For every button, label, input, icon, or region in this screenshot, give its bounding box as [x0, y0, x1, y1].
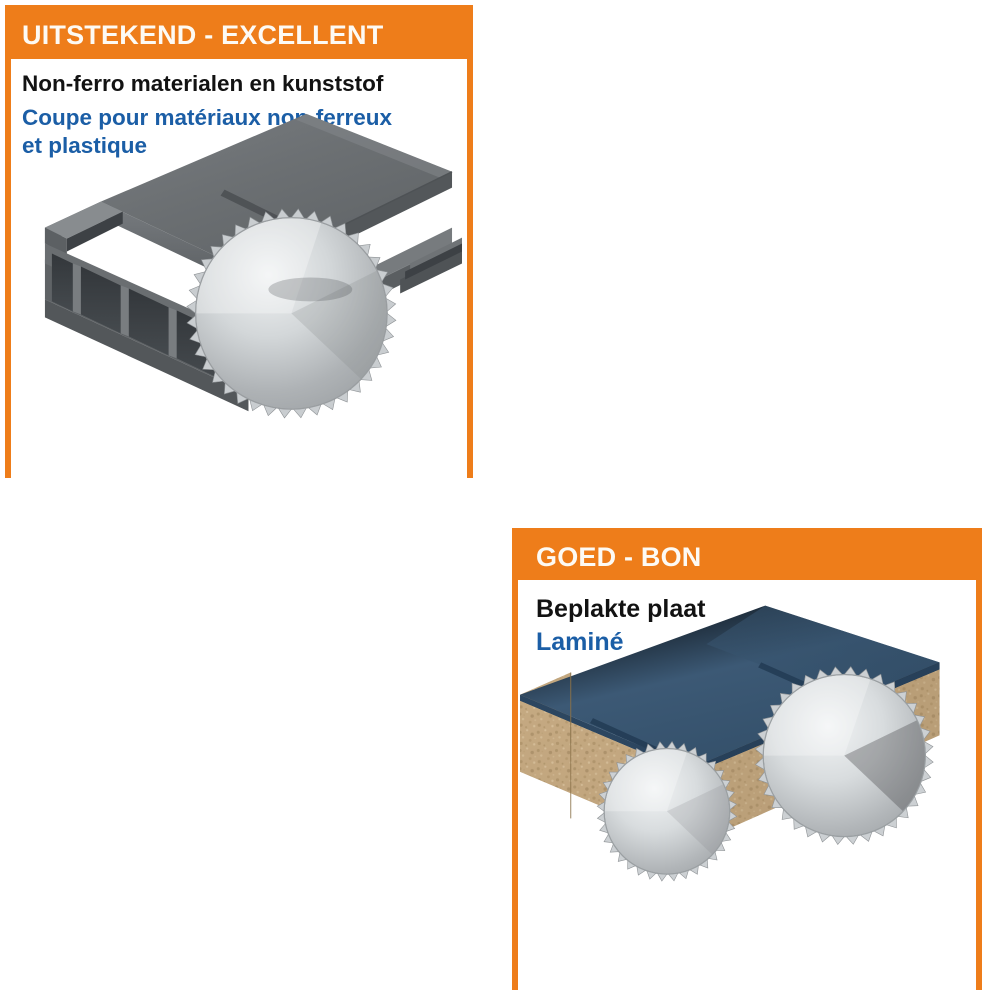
circular-saw-blade-main [187, 209, 396, 418]
saw-blade-fin-left [591, 696, 681, 743]
saw-kerf [221, 190, 311, 238]
rating-panel-excellent: UITSTEKEND - EXCELLENT Non-ferro materia… [5, 5, 473, 478]
profile-webs [73, 264, 177, 359]
material-title-fr-good: Laminé [536, 626, 976, 658]
rating-label-excellent: UITSTEKEND - EXCELLENT [22, 20, 383, 51]
rating-label-good: GOED - BON [536, 542, 702, 573]
blade-contact-shadow [268, 277, 352, 301]
material-title-fr-excellent-line2: et plastique [22, 132, 467, 160]
saw-blade-teeth [187, 209, 396, 418]
panel-header-good: GOED - BON [518, 534, 976, 580]
circular-saw-blade-left [597, 742, 736, 881]
saw-blade-upper-arc [223, 164, 329, 215]
panel-body-good: Beplakte plaat Laminé [518, 580, 976, 996]
page-root: UITSTEKEND - EXCELLENT Non-ferro materia… [0, 0, 993, 1000]
material-title-nl-good: Beplakte plaat [536, 592, 976, 626]
material-title-nl-excellent: Non-ferro materialen en kunststof [22, 69, 467, 99]
material-title-fr-excellent-line1: Coupe pour matériaux non-ferreux [22, 104, 467, 132]
rating-panel-good: GOED - BON Beplakte plaat Laminé [512, 528, 982, 990]
panel-header-excellent: UITSTEKEND - EXCELLENT [11, 11, 467, 59]
material-title-fr-excellent: Coupe pour matériaux non-ferreux et plas… [22, 104, 467, 160]
circular-saw-blade-right [755, 667, 933, 845]
panel-body-excellent: Non-ferro materialen en kunststof Coupe … [11, 59, 467, 482]
profile-cavities [52, 254, 217, 378]
